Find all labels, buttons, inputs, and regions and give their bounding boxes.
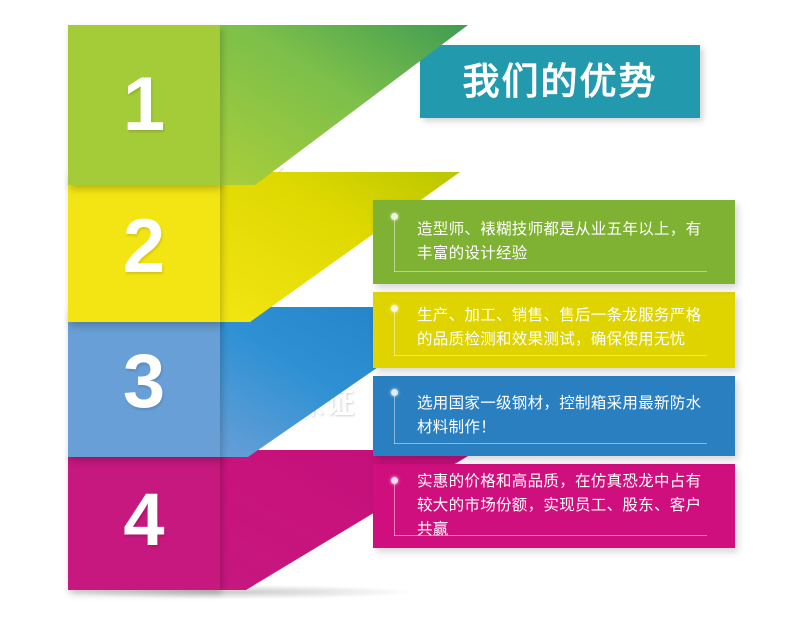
number-block-3: 3 <box>68 307 220 457</box>
ribbon-band-1 <box>220 25 620 185</box>
number-block-2: 2 <box>68 172 220 322</box>
panel-rule-vertical-2 <box>394 312 395 356</box>
pin-dot-icon-1 <box>391 213 398 220</box>
advantage-row-1: 1 <box>0 25 800 185</box>
pin-dot-icon-3 <box>391 389 398 396</box>
description-text-4: 实惠的价格和高品质，在仿真恐龙中占有较大的市场份额，实现员工、股东、客户共赢 <box>417 470 705 542</box>
description-text-2: 生产、加工、销售、售后一条龙服务严格的品质检测和效果测试，确保使用无忧 <box>417 304 705 352</box>
description-text-1: 造型师、裱糊技师都是从业五年以上，有丰富的设计经验 <box>417 218 705 266</box>
description-panel-1: 造型师、裱糊技师都是从业五年以上，有丰富的设计经验 <box>373 200 735 284</box>
infographic-canvas: 我们的优势 1 专业的团队 <box>0 0 800 622</box>
panel-rule-horizontal-3 <box>394 443 707 444</box>
number-label-2: 2 <box>68 209 220 285</box>
number-label-1: 1 <box>68 67 220 143</box>
panel-rule-horizontal-1 <box>394 271 707 272</box>
panel-rule-vertical-4 <box>394 484 395 536</box>
pin-dot-icon-2 <box>391 305 398 312</box>
number-label-3: 3 <box>68 344 220 420</box>
panel-rule-vertical-1 <box>394 220 395 272</box>
number-block-4: 4 <box>68 450 220 590</box>
pin-dot-icon-4 <box>391 477 398 484</box>
description-panel-3: 选用国家一级钢材，控制箱采用最新防水材料制作！ <box>373 376 735 456</box>
description-panel-2: 生产、加工、销售、售后一条龙服务严格的品质检测和效果测试，确保使用无忧 <box>373 292 735 368</box>
number-block-1: 1 <box>68 25 220 185</box>
number-label-4: 4 <box>68 483 220 557</box>
description-panel-4: 实惠的价格和高品质，在仿真恐龙中占有较大的市场份额，实现员工、股东、客户共赢 <box>373 464 735 548</box>
description-text-3: 选用国家一级钢材，控制箱采用最新防水材料制作！ <box>417 392 705 440</box>
panel-rule-vertical-3 <box>394 396 395 444</box>
panel-rule-horizontal-2 <box>394 355 707 356</box>
